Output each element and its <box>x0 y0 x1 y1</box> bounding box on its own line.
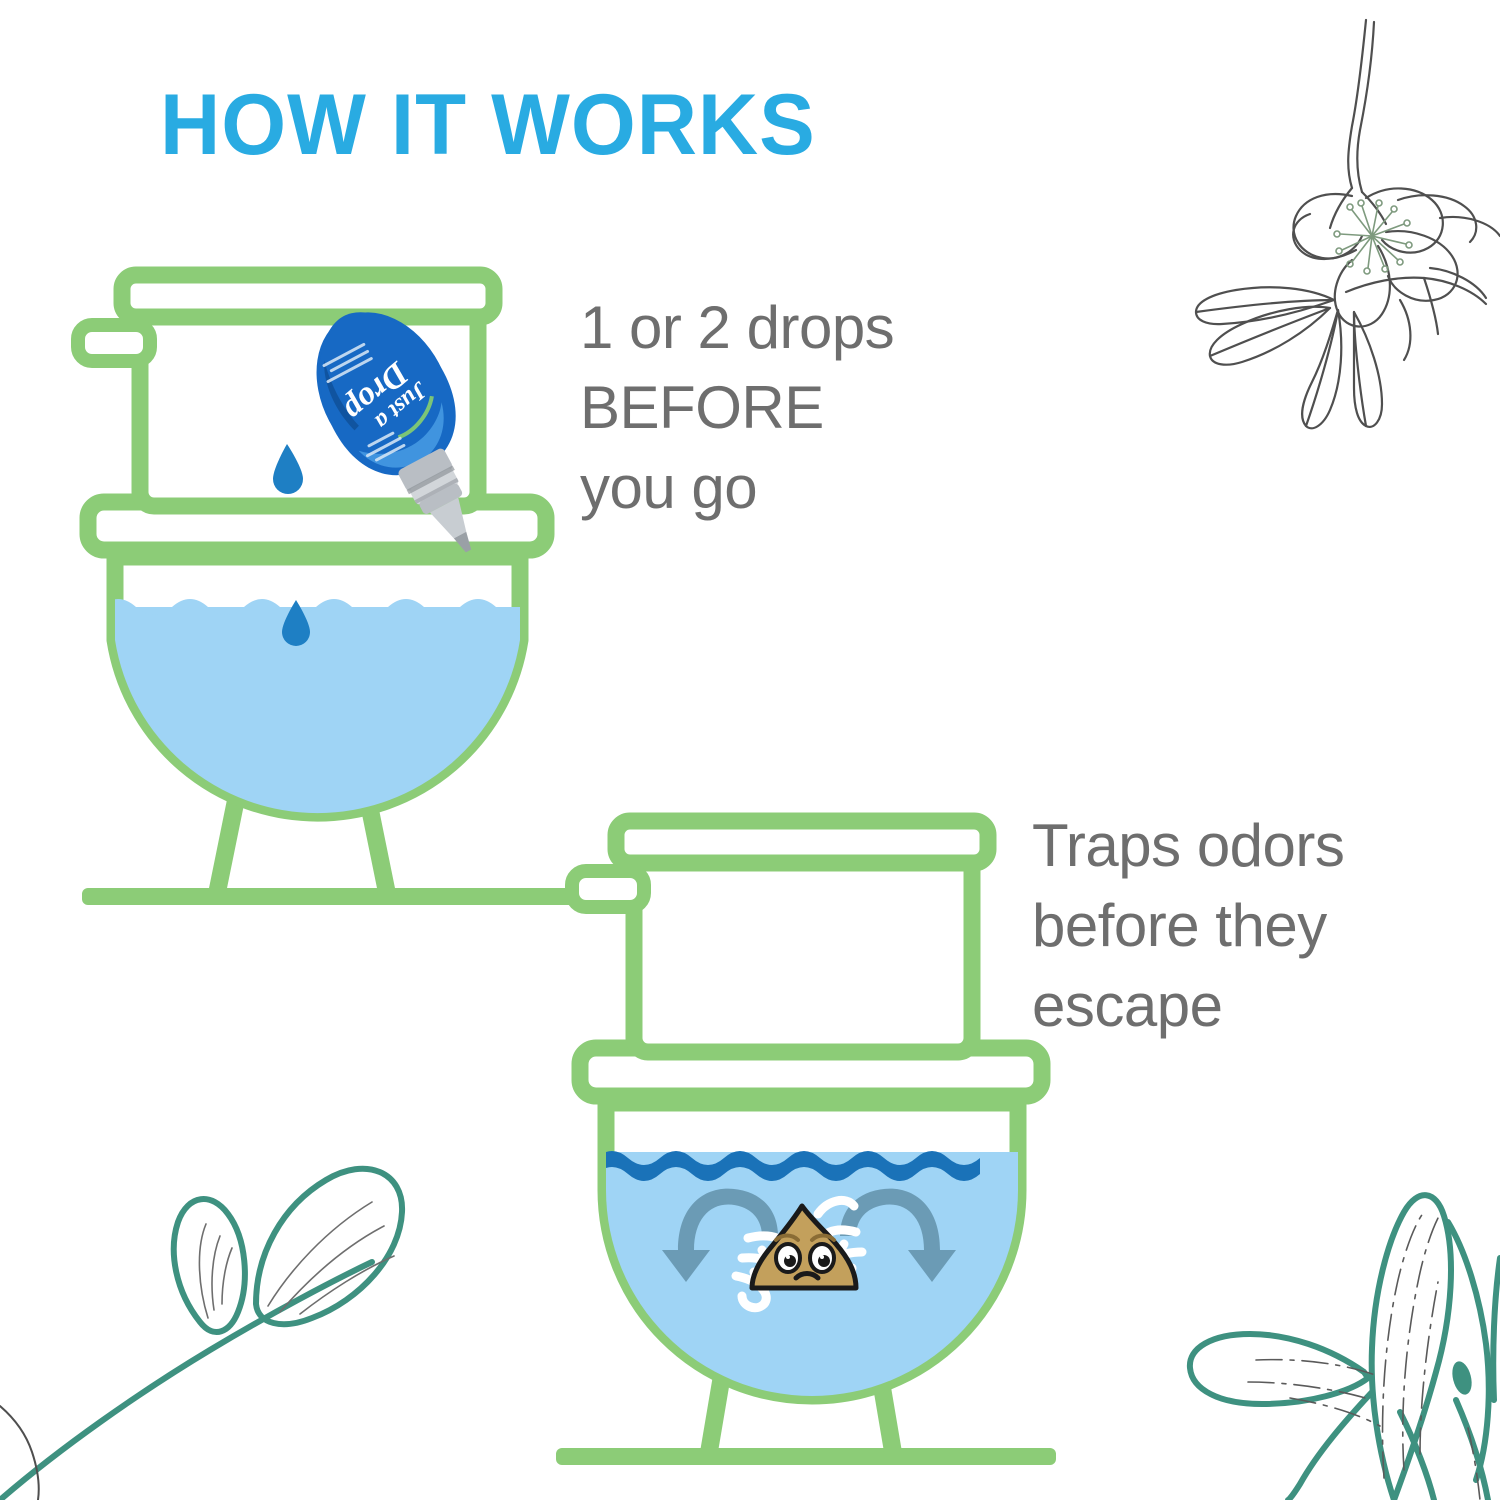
toilet-tank-2 <box>634 854 972 1052</box>
floor-line-2 <box>556 1448 1056 1465</box>
toilet-tank-lid-2 <box>616 821 988 863</box>
toilet-scene-odor-trapped <box>0 0 1500 1500</box>
flush-handle-2 <box>572 871 644 907</box>
caption-step-2: Traps odors before they escape <box>1032 806 1344 1045</box>
infographic-canvas: Just a Drop <box>0 0 1500 1500</box>
page-title: HOW IT WORKS <box>160 82 816 168</box>
caption-step-1: 1 or 2 drops BEFORE you go <box>580 288 894 527</box>
bowl-2-water <box>598 1152 1028 1482</box>
